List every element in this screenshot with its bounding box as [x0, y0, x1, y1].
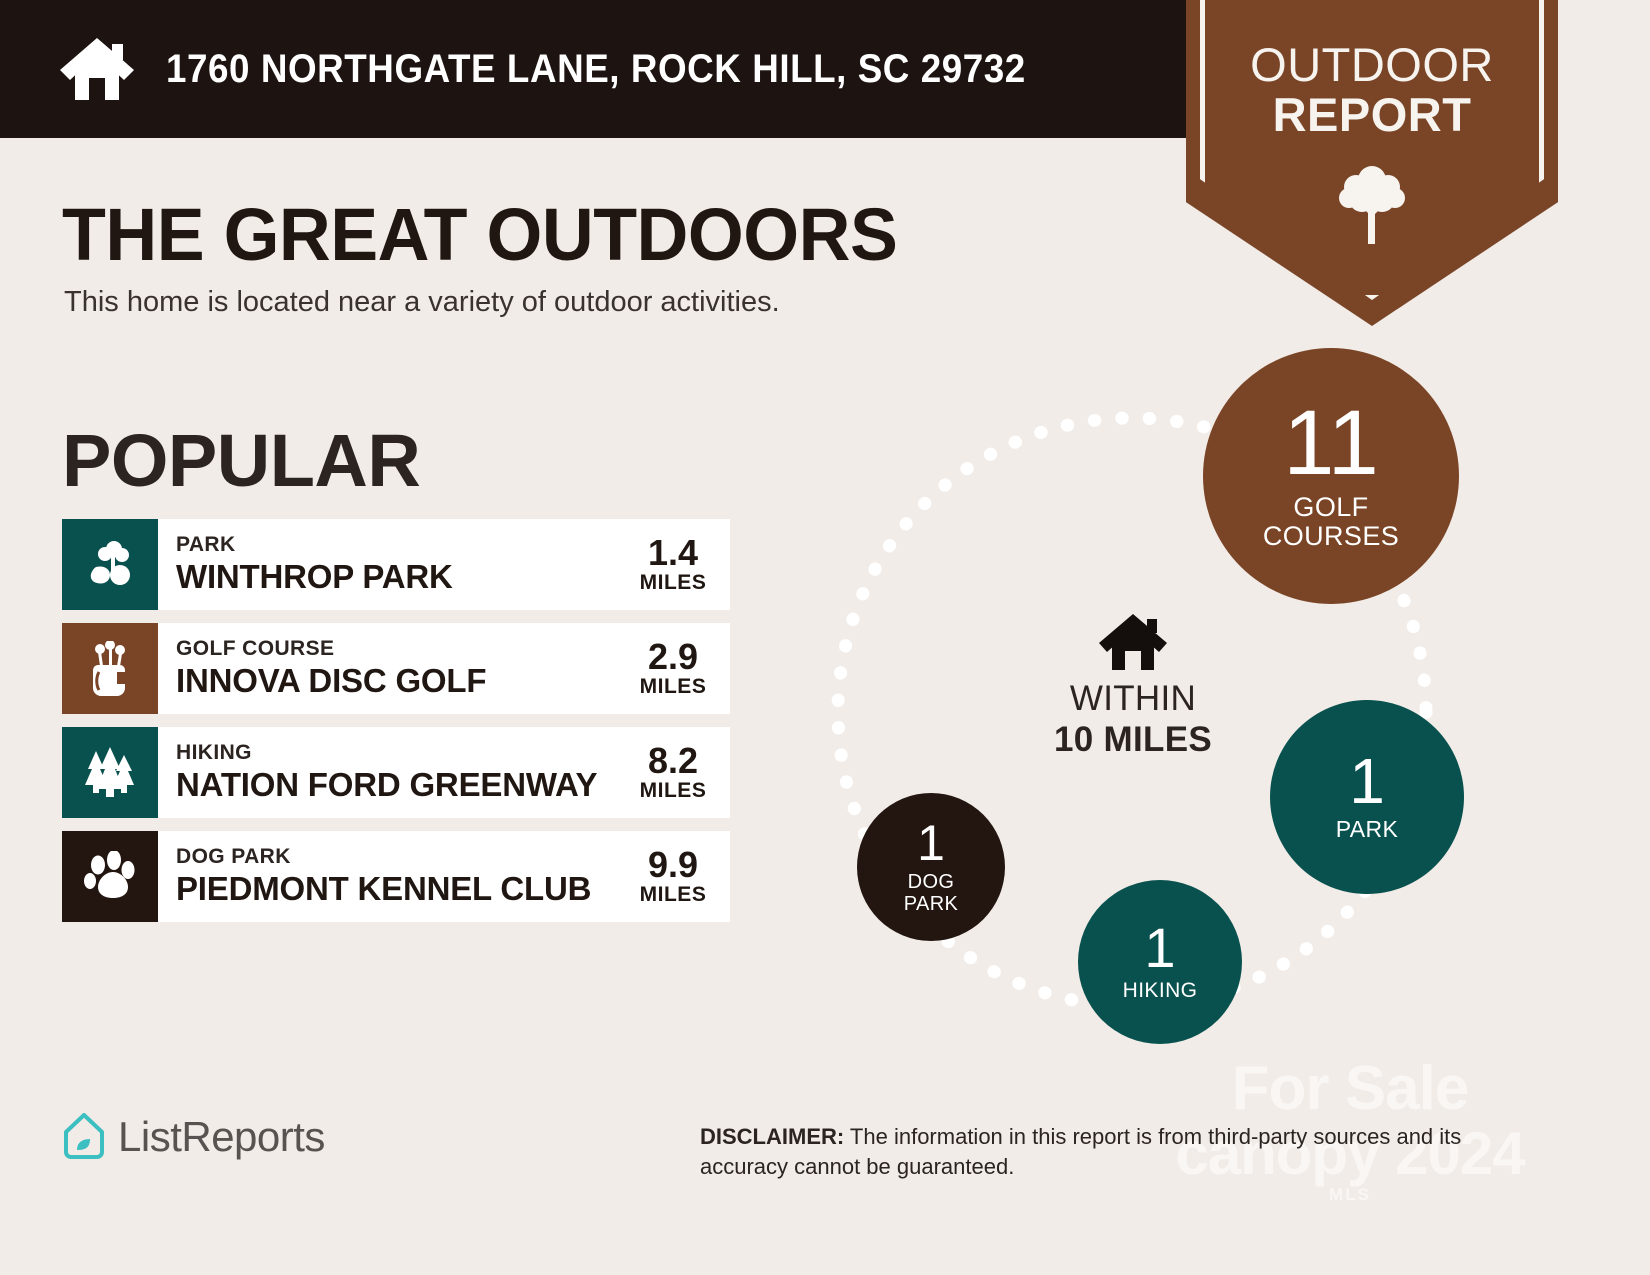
list-item-distance-block: 2.9 MILES — [624, 623, 730, 714]
list-item-name: PIEDMONT KENNEL CLUB — [176, 870, 624, 908]
list-item-distance-block: 1.4 MILES — [624, 519, 730, 610]
header-bar: 1760 NORTHGATE LANE, ROCK HILL, SC 29732 — [0, 0, 1188, 138]
list-item-distance-block: 8.2 MILES — [624, 727, 730, 818]
listreports-logo[interactable]: ListReports — [62, 1112, 325, 1162]
list-item[interactable]: HIKING NATION FORD GREENWAY 8.2 MILES — [62, 727, 730, 818]
list-item-text: GOLF COURSE INNOVA DISC GOLF — [158, 623, 624, 714]
disclaimer-label: DISCLAIMER: — [700, 1124, 844, 1149]
list-item-unit: MILES — [640, 571, 707, 594]
badge-title: OUTDOOR REPORT — [1186, 40, 1558, 140]
page-subtitle: This home is located near a variety of o… — [64, 286, 780, 319]
within-radius-hub: WITHIN 10 MILES — [1018, 612, 1248, 761]
house-icon — [58, 36, 136, 102]
stat-label: HIKING — [1123, 979, 1198, 1002]
badge-title-line1: OUTDOOR — [1186, 40, 1558, 90]
stat-count: 1 — [1349, 751, 1385, 811]
stat-label-line2: COURSES — [1263, 522, 1399, 552]
watermark-line-3: MLS — [1140, 1186, 1560, 1203]
listreports-house-leaf-icon — [62, 1112, 106, 1162]
list-item-icon-box — [62, 831, 158, 922]
outdoor-report-badge: OUTDOOR REPORT — [1186, 0, 1558, 326]
golf-bag-icon — [84, 641, 136, 697]
park-trees-icon — [84, 539, 136, 591]
list-item-icon-box — [62, 727, 158, 818]
stat-label-line1: GOLF — [1263, 493, 1399, 523]
house-icon — [1097, 612, 1169, 672]
listreports-wordmark: ListReports — [118, 1113, 325, 1161]
list-item-unit: MILES — [640, 675, 707, 698]
page-title: THE GREAT OUTDOORS — [62, 192, 897, 277]
list-item-category: PARK — [176, 533, 624, 557]
list-item-category: GOLF COURSE — [176, 637, 624, 661]
list-item-text: PARK WINTHROP PARK — [158, 519, 624, 610]
list-item-text: HIKING NATION FORD GREENWAY — [158, 727, 624, 818]
list-item-distance: 1.4 — [648, 535, 698, 572]
outdoor-report-page: 1760 NORTHGATE LANE, ROCK HILL, SC 29732… — [0, 0, 1650, 1275]
list-item-category: HIKING — [176, 741, 624, 765]
stat-label-line2: PARK — [904, 893, 959, 915]
list-item-unit: MILES — [640, 779, 707, 802]
hub-line-1: WITHIN — [1018, 678, 1248, 719]
disclaimer: DISCLAIMER: The information in this repo… — [700, 1122, 1510, 1181]
popular-list: PARK WINTHROP PARK 1.4 MILES — [62, 519, 730, 935]
list-item-unit: MILES — [640, 883, 707, 906]
list-item[interactable]: PARK WINTHROP PARK 1.4 MILES — [62, 519, 730, 610]
watermark-line-1: For Sale — [1140, 1058, 1560, 1120]
list-item-category: DOG PARK — [176, 845, 624, 869]
list-item-icon-box — [62, 623, 158, 714]
list-item[interactable]: DOG PARK PIEDMONT KENNEL CLUB 9.9 MILES — [62, 831, 730, 922]
pine-trees-icon — [82, 747, 138, 799]
stat-bubble-dog-park[interactable]: 1 DOG PARK — [857, 793, 1005, 941]
stat-bubble-hiking[interactable]: 1 HIKING — [1078, 880, 1242, 1044]
hub-line-2: 10 MILES — [1018, 719, 1248, 760]
stat-label: PARK — [1336, 817, 1399, 842]
stat-label: GOLF COURSES — [1263, 493, 1399, 552]
stat-count: 1 — [917, 820, 945, 867]
list-item-text: DOG PARK PIEDMONT KENNEL CLUB — [158, 831, 624, 922]
stat-label-line1: DOG — [904, 871, 959, 893]
list-item-name: NATION FORD GREENWAY — [176, 766, 624, 804]
list-item-distance: 8.2 — [648, 743, 698, 780]
stat-bubble-park[interactable]: 1 PARK — [1270, 700, 1464, 894]
list-item-icon-box — [62, 519, 158, 610]
paw-print-icon — [84, 851, 136, 903]
list-item-name: WINTHROP PARK — [176, 558, 624, 596]
stat-count: 11 — [1283, 400, 1379, 486]
list-item-distance-block: 9.9 MILES — [624, 831, 730, 922]
list-item-distance: 9.9 — [648, 847, 698, 884]
stat-label: DOG PARK — [904, 871, 959, 915]
list-item-name: INNOVA DISC GOLF — [176, 662, 624, 700]
list-item-distance: 2.9 — [648, 639, 698, 676]
tree-icon — [1335, 160, 1409, 250]
list-item[interactable]: GOLF COURSE INNOVA DISC GOLF 2.9 MILES — [62, 623, 730, 714]
popular-heading: POPULAR — [62, 418, 420, 503]
property-address: 1760 NORTHGATE LANE, ROCK HILL, SC 29732 — [166, 47, 1026, 92]
stat-bubble-golf-courses[interactable]: 11 GOLF COURSES — [1203, 348, 1459, 604]
stat-count: 1 — [1144, 922, 1175, 975]
badge-title-line2: REPORT — [1186, 90, 1558, 140]
